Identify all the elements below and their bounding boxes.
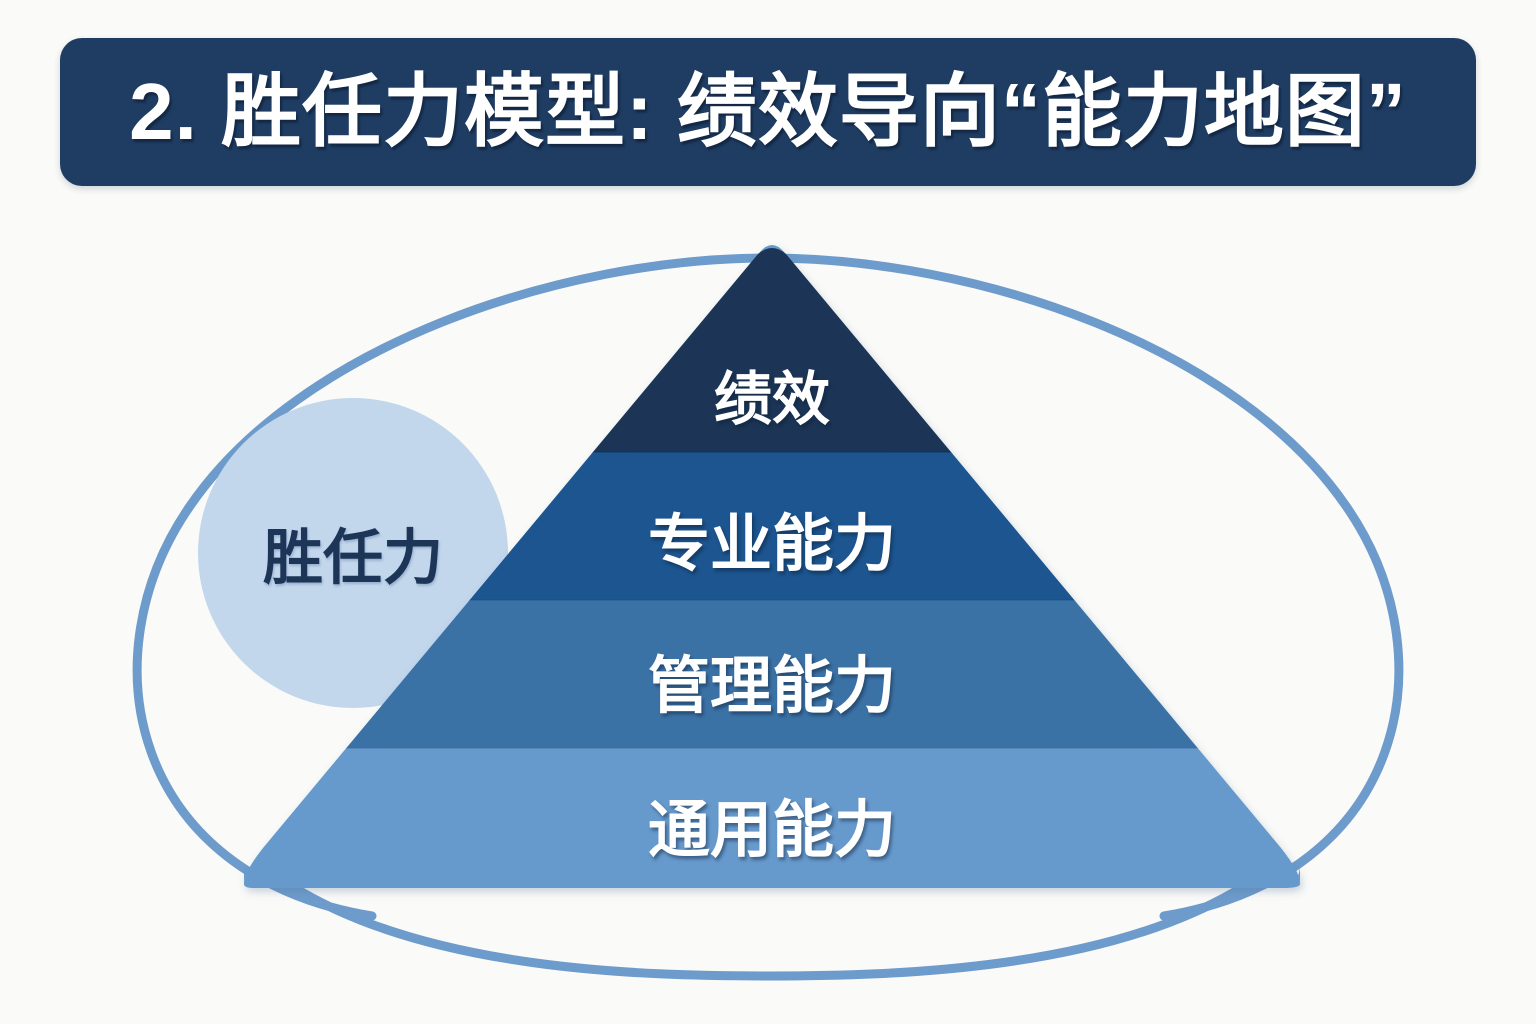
pyramid-layer-1 [0,186,1536,452]
pyramid-layer-4 [0,748,1536,908]
diagram-svg [0,186,1536,1024]
page-title: 2. 胜任力模型: 绩效导向“能力地图” [129,72,1407,152]
title-banner: 2. 胜任力模型: 绩效导向“能力地图” [60,38,1476,186]
slide-canvas: 2. 胜任力模型: 绩效导向“能力地图” [0,0,1536,1024]
competency-pyramid-diagram: 绩效 专业能力 管理能力 通用能力 胜任力 [0,186,1536,1024]
